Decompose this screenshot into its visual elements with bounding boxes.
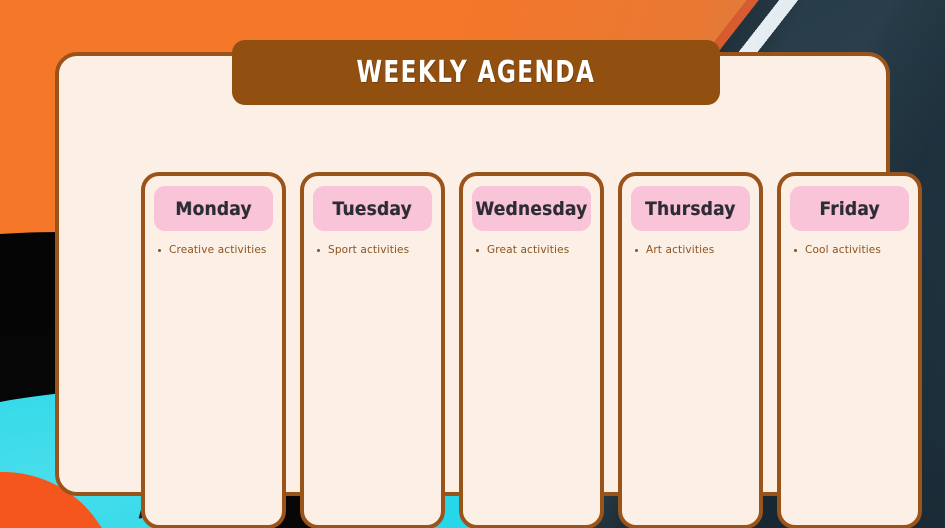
day-label: Tuesday [333, 198, 412, 220]
day-columns: Monday Creative activities Tuesday Sport… [141, 172, 922, 528]
task-list-wednesday: Great activities [472, 231, 591, 515]
day-label: Monday [175, 198, 251, 220]
day-label: Wednesday [475, 198, 587, 220]
title-banner: WEEKLY AGENDA [232, 40, 720, 105]
day-header-thursday: Thursday [631, 186, 750, 231]
day-header-monday: Monday [154, 186, 273, 231]
day-header-tuesday: Tuesday [313, 186, 432, 231]
day-header-friday: Friday [790, 186, 909, 231]
task-item[interactable]: Art activities [634, 243, 750, 257]
task-item[interactable]: Cool activities [793, 243, 909, 257]
slide-canvas: A Monday Creative activities Tuesday Spo… [0, 0, 945, 528]
task-list-thursday: Art activities [631, 231, 750, 515]
day-column-friday[interactable]: Friday Cool activities [777, 172, 922, 528]
day-column-wednesday[interactable]: Wednesday Great activities [459, 172, 604, 528]
agenda-card: Monday Creative activities Tuesday Sport… [55, 52, 890, 496]
page-title: WEEKLY AGENDA [357, 55, 596, 90]
task-list-monday: Creative activities [154, 231, 273, 515]
day-label: Thursday [645, 198, 735, 220]
task-list-tuesday: Sport activities [313, 231, 432, 515]
day-column-monday[interactable]: Monday Creative activities [141, 172, 286, 528]
day-column-thursday[interactable]: Thursday Art activities [618, 172, 763, 528]
task-item[interactable]: Creative activities [157, 243, 273, 257]
day-column-tuesday[interactable]: Tuesday Sport activities [300, 172, 445, 528]
day-label: Friday [819, 198, 879, 220]
day-header-wednesday: Wednesday [472, 186, 591, 231]
task-item[interactable]: Great activities [475, 243, 591, 257]
task-list-friday: Cool activities [790, 231, 909, 515]
task-item[interactable]: Sport activities [316, 243, 432, 257]
